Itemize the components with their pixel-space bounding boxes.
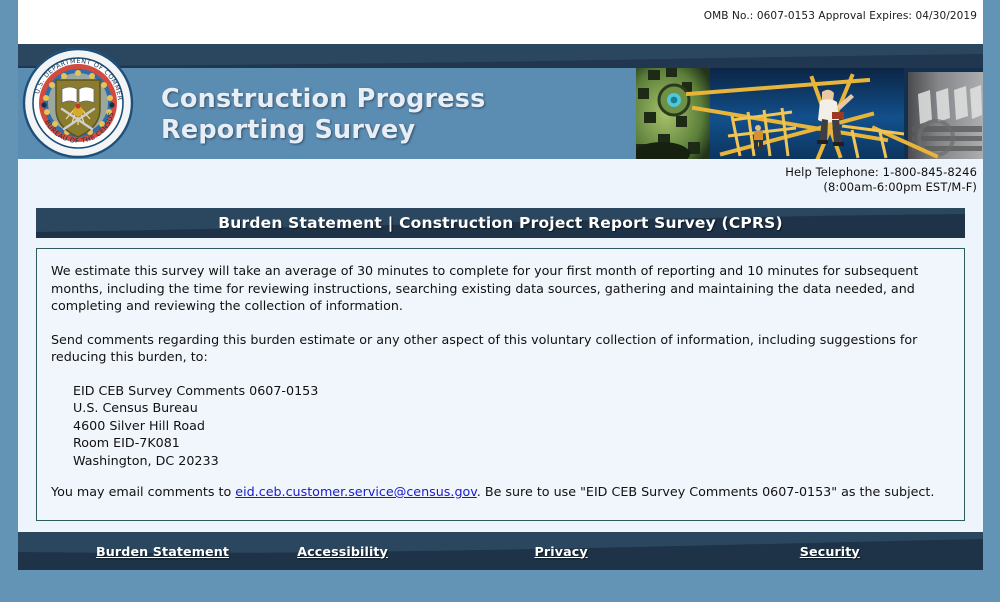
site-title: Construction Progress Reporting Survey bbox=[161, 84, 631, 146]
email-instruction-suffix: . Be sure to use "EID CEB Survey Comment… bbox=[477, 484, 935, 499]
page-frame: OMB No.: 0607-0153 Approval Expires: 04/… bbox=[18, 0, 983, 594]
help-telephone-number: Help Telephone: 1-800-845-8246 bbox=[785, 165, 977, 179]
address-line: U.S. Census Bureau bbox=[73, 399, 950, 417]
address-line: Washington, DC 20233 bbox=[73, 452, 950, 470]
masthead-navy-strip bbox=[18, 44, 983, 68]
burden-paragraph-2: Send comments regarding this burden esti… bbox=[51, 331, 950, 366]
footer-link-burden-statement[interactable]: Burden Statement bbox=[96, 544, 239, 559]
section-title-bar: Burden Statement | Construction Project … bbox=[36, 208, 965, 238]
construction-banner-image bbox=[636, 68, 983, 159]
footer-link-privacy[interactable]: Privacy bbox=[441, 544, 678, 559]
help-telephone-hours: (8:00am-6:00pm EST/M-F) bbox=[823, 180, 977, 194]
help-telephone-block: Help Telephone: 1-800-845-8246 (8:00am-6… bbox=[18, 159, 983, 199]
site-footer: Burden Statement Accessibility Privacy S… bbox=[18, 532, 983, 570]
footer-link-list: Burden Statement Accessibility Privacy S… bbox=[18, 532, 983, 570]
footer-link-security[interactable]: Security bbox=[678, 544, 943, 559]
email-instruction-prefix: You may email comments to bbox=[51, 484, 235, 499]
census-bureau-seal-icon: U.S. DEPARTMENT OF COMMERCE BUREAU OF TH… bbox=[22, 47, 134, 159]
email-comments-link[interactable]: eid.ceb.customer.service@census.gov bbox=[235, 484, 477, 499]
mailing-address-block: EID CEB Survey Comments 0607-0153 U.S. C… bbox=[73, 382, 950, 470]
address-line: EID CEB Survey Comments 0607-0153 bbox=[73, 382, 950, 400]
footer-link-accessibility[interactable]: Accessibility bbox=[239, 544, 440, 559]
email-instruction-paragraph: You may email comments to eid.ceb.custom… bbox=[51, 483, 950, 501]
address-line: 4600 Silver Hill Road bbox=[73, 417, 950, 435]
footer-bottom-strip bbox=[18, 570, 983, 594]
omb-notice-bar: OMB No.: 0607-0153 Approval Expires: 04/… bbox=[18, 0, 983, 44]
burden-paragraph-1: We estimate this survey will take an ave… bbox=[51, 262, 950, 315]
section-title-text: Burden Statement | Construction Project … bbox=[36, 208, 965, 238]
address-line: Room EID-7K081 bbox=[73, 434, 950, 452]
omb-notice-text: OMB No.: 0607-0153 Approval Expires: 04/… bbox=[704, 10, 977, 22]
burden-statement-panel: We estimate this survey will take an ave… bbox=[36, 248, 965, 521]
site-masthead: U.S. DEPARTMENT OF COMMERCE BUREAU OF TH… bbox=[18, 44, 983, 159]
